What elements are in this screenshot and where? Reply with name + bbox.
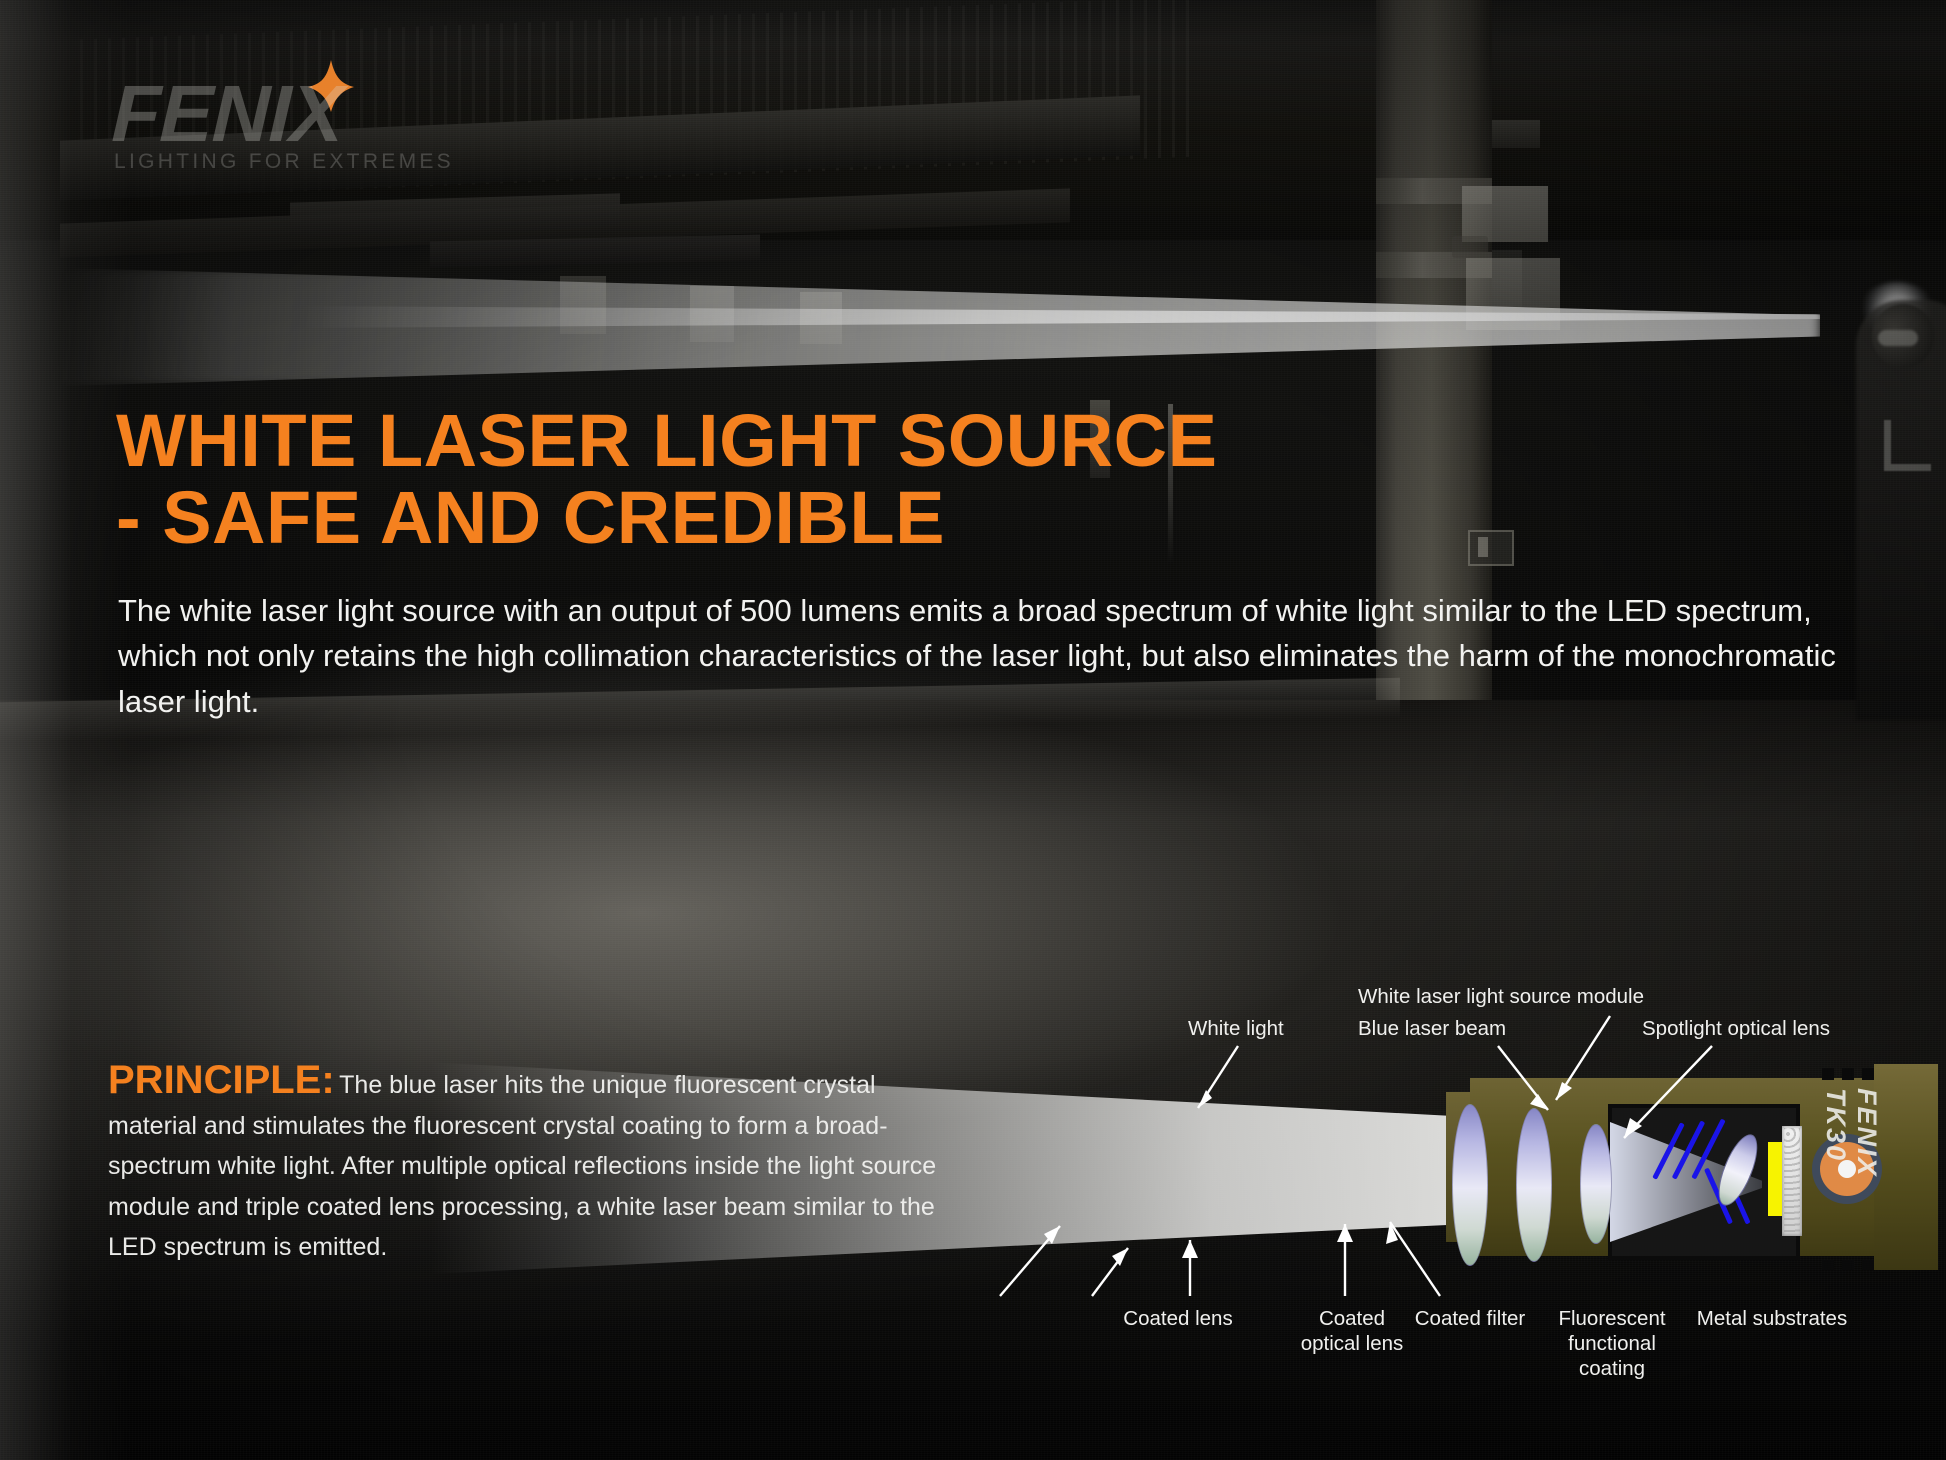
coated-filter-element: [1580, 1124, 1612, 1244]
fluorescent-functional-coating-element: [1768, 1142, 1782, 1216]
product-name-label: FENIX TK30: [1820, 1088, 1882, 1248]
page-title: WHITE LASER LIGHT SOURCE - SAFE AND CRED…: [116, 405, 1416, 553]
white-light-cone: [430, 1058, 1460, 1274]
fenix-wordmark: FENIX: [111, 74, 534, 154]
flashlight-tailcap: [1874, 1064, 1938, 1270]
body-notch: [1862, 1260, 1874, 1270]
coated-lens-element: [1452, 1104, 1488, 1266]
column-sign: [1462, 186, 1548, 242]
body-notch: [1822, 1260, 1834, 1270]
wall-outlet: [1452, 236, 1488, 258]
label-coated-optical-lens: Coated optical lens: [1301, 1306, 1404, 1356]
coated-optical-lens-element: [1516, 1108, 1552, 1262]
body-notch: [1822, 1068, 1834, 1080]
wall-panel: [1484, 120, 1540, 148]
fenix-tagline: LIGHTING FOR EXTREMES: [114, 150, 454, 174]
body-notch: [1862, 1068, 1874, 1080]
fenix-logo: FENIX LIGHTING FOR EXTREMES: [112, 74, 532, 174]
slide-canvas: FENIX LIGHTING FOR EXTREMES WHITE LASER …: [0, 0, 1946, 1460]
label-white-light: White light: [1188, 1016, 1284, 1041]
person-jacket-stripe: [1884, 420, 1931, 471]
label-blue-laser-beam: Blue laser beam: [1358, 1016, 1506, 1041]
label-white-laser-light-source-module: White laser light source module: [1358, 984, 1644, 1009]
label-coated-filter: Coated filter: [1415, 1306, 1526, 1331]
label-coated-lens: Coated lens: [1123, 1306, 1232, 1331]
metal-substrate-element: [1782, 1126, 1802, 1236]
label-metal-substrates: Metal substrates: [1697, 1306, 1847, 1331]
body-notch: [1842, 1068, 1854, 1080]
label-coated-optical-lens-line2: optical lens: [1301, 1331, 1404, 1356]
principle-heading: PRINCIPLE:: [108, 1058, 335, 1102]
label-coated-optical-lens-line1: Coated: [1301, 1306, 1404, 1331]
exit-sign-box: [1468, 530, 1514, 566]
label-fluorescent-line3: coating: [1558, 1356, 1665, 1381]
headline-line-2: - SAFE AND CREDIBLE: [116, 482, 1416, 553]
lede-paragraph: The white laser light source with an out…: [118, 588, 1838, 724]
headline-line-1: WHITE LASER LIGHT SOURCE: [116, 399, 1217, 482]
label-spotlight-optical-lens: Spotlight optical lens: [1642, 1016, 1830, 1041]
person-visor: [1878, 330, 1918, 346]
label-fluorescent-line1: Fluorescent: [1558, 1306, 1665, 1331]
label-fluorescent-line2: functional: [1558, 1331, 1665, 1356]
label-fluorescent-functional-coating: Fluorescent functional coating: [1558, 1306, 1665, 1381]
body-notch: [1842, 1260, 1854, 1270]
